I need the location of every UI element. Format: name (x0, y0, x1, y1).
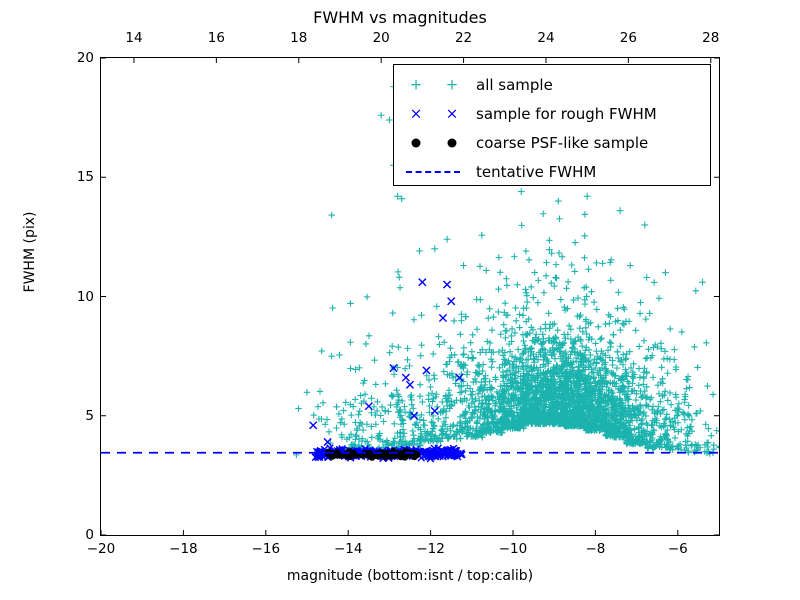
dot-marker (347, 448, 354, 455)
plus-marker (636, 382, 642, 388)
cross-marker: × (446, 106, 459, 121)
plus-marker (391, 371, 397, 377)
plus-marker (401, 430, 407, 436)
plus-marker (662, 269, 669, 276)
plus-marker: + (446, 77, 459, 92)
plus-marker (378, 112, 385, 119)
plus-marker (295, 405, 301, 411)
plus-marker (444, 236, 451, 243)
plus-marker (385, 408, 391, 414)
plus-marker (599, 260, 605, 266)
x-axis-label: magnitude (bottom:isnt / top:calib) (100, 568, 720, 584)
plus-marker (488, 364, 494, 370)
plus-marker (572, 239, 578, 245)
plus-marker (410, 405, 416, 411)
plus-marker (592, 340, 598, 346)
x-tick-top-label: 14 (125, 30, 142, 46)
plus-marker (559, 254, 565, 260)
plus-marker (524, 292, 530, 298)
plus-marker (553, 261, 559, 267)
plus-marker (512, 305, 518, 311)
plus-marker (563, 285, 569, 291)
plus-marker (391, 421, 397, 427)
plus-marker (598, 335, 604, 341)
x-tick-top-label: 20 (373, 30, 390, 46)
plus-marker (582, 211, 588, 217)
plus-marker (336, 411, 342, 417)
plus-marker: + (410, 77, 423, 92)
legend-label-all-sample: all sample (476, 76, 553, 94)
plus-marker (522, 342, 528, 348)
plus-marker (594, 306, 600, 312)
plus-marker (577, 325, 583, 331)
plus-marker (645, 346, 651, 352)
cross-marker (439, 314, 446, 321)
plus-marker (446, 387, 452, 393)
plus-marker (368, 395, 374, 401)
plus-marker (554, 327, 560, 333)
plus-marker (694, 364, 700, 370)
plus-marker (691, 344, 697, 350)
plus-marker (688, 423, 694, 429)
legend-label-coarse-psf: coarse PSF-like sample (476, 134, 648, 152)
plus-marker (418, 412, 424, 418)
plus-marker (595, 324, 601, 330)
dashed-line (406, 171, 460, 173)
plus-marker (610, 332, 616, 338)
x-tick-top-label: 16 (208, 30, 225, 46)
y-axis-label: FWHM (pix) (22, 162, 38, 342)
plus-marker (450, 422, 456, 428)
plus-marker (636, 365, 642, 371)
plus-marker (551, 321, 557, 327)
plus-marker (435, 416, 441, 422)
plus-marker (416, 248, 422, 254)
legend-handle-coarse-psf (394, 128, 476, 157)
legend-handle-rough-fwhm: × × (394, 99, 476, 128)
dot-marker (448, 138, 457, 147)
plus-marker (431, 245, 438, 252)
plus-marker (656, 295, 662, 301)
plus-marker (430, 413, 436, 419)
plus-marker (347, 300, 353, 306)
plus-marker (441, 368, 447, 374)
plus-marker (502, 300, 508, 306)
plus-marker (530, 294, 536, 300)
plus-marker (364, 294, 370, 300)
plus-marker (431, 372, 437, 378)
plus-marker (523, 305, 529, 311)
plus-marker (541, 290, 547, 296)
plus-marker (615, 289, 621, 295)
plus-marker (337, 420, 343, 426)
plus-marker (617, 207, 624, 214)
plus-marker (535, 277, 541, 283)
plus-marker (528, 284, 534, 290)
dot-marker (413, 452, 420, 459)
plus-marker (483, 267, 489, 273)
x-tick-top-label: 18 (290, 30, 307, 46)
plus-marker (347, 339, 353, 345)
plus-marker (531, 269, 537, 275)
plus-marker (617, 327, 623, 333)
chart-title: FWHM vs magnitudes (0, 8, 800, 27)
x-tick-top-label: 26 (620, 30, 637, 46)
plus-marker (664, 370, 670, 376)
plus-marker (477, 263, 483, 269)
figure-canvas: FWHM vs magnitudes FWHM (pix) magnitude … (0, 0, 800, 600)
plus-marker (683, 386, 689, 392)
x-tick-bottom-label: −16 (252, 541, 281, 557)
y-tick-label: 10 (77, 289, 94, 305)
plus-marker (606, 320, 612, 326)
plus-marker (545, 310, 551, 316)
plus-marker (540, 211, 546, 217)
plus-marker (516, 324, 522, 330)
plus-marker (356, 365, 362, 371)
plus-marker (406, 363, 412, 369)
cross-marker (431, 407, 438, 414)
plus-marker (396, 274, 402, 280)
plus-marker (304, 389, 310, 395)
plus-marker (317, 388, 323, 394)
plus-marker (377, 412, 383, 418)
plus-marker (591, 299, 597, 305)
plus-marker (526, 257, 532, 263)
plus-marker (373, 381, 379, 387)
x-tick-bottom-label: −20 (87, 541, 116, 557)
plus-marker (597, 336, 603, 342)
plus-marker (496, 254, 502, 260)
plus-marker (390, 393, 396, 399)
cross-marker (448, 298, 455, 305)
plus-marker (546, 237, 552, 243)
plus-marker (703, 340, 709, 346)
plus-marker (617, 343, 623, 349)
y-tick-label: 0 (85, 527, 94, 543)
plus-marker (572, 268, 578, 274)
plus-marker (555, 198, 562, 205)
x-tick-bottom-label: −8 (585, 541, 605, 557)
plus-marker (417, 416, 423, 422)
legend-handle-all-sample: + + (394, 70, 476, 99)
plus-marker (326, 429, 332, 435)
plus-marker (389, 393, 395, 399)
cross-marker (310, 422, 317, 429)
plus-marker (404, 345, 410, 351)
plus-marker (495, 309, 501, 315)
plus-marker (676, 400, 682, 406)
cross-marker (443, 281, 450, 288)
plus-marker (461, 345, 467, 351)
plus-marker (387, 402, 393, 408)
plus-marker (641, 222, 648, 229)
plus-marker (646, 310, 652, 316)
legend-handle-tentative-fwhm (394, 157, 476, 186)
cross-marker: × (410, 106, 423, 121)
legend-item-all-sample: + + all sample (394, 70, 710, 99)
plus-marker (357, 408, 363, 414)
plus-marker (458, 317, 464, 323)
dot-marker (412, 138, 421, 147)
plus-marker (704, 383, 710, 389)
plus-marker (371, 357, 377, 363)
plus-marker (522, 286, 528, 292)
plus-marker (584, 193, 591, 200)
plus-marker (593, 348, 599, 354)
plus-marker (626, 318, 632, 324)
plus-marker (484, 338, 490, 344)
plus-marker (468, 414, 474, 420)
plus-marker (556, 250, 562, 256)
plus-marker (588, 289, 594, 295)
plus-marker (489, 327, 495, 333)
plus-marker (382, 381, 388, 387)
plus-marker (435, 333, 441, 339)
plus-marker (495, 286, 501, 292)
plus-marker (593, 260, 599, 266)
plus-marker (552, 356, 558, 362)
plus-marker (487, 340, 493, 346)
cross-marker (402, 374, 409, 381)
plus-marker (685, 402, 691, 408)
legend-item-rough-fwhm: × × sample for rough FWHM (394, 99, 710, 128)
plus-marker (427, 384, 433, 390)
plus-marker (395, 397, 401, 403)
plus-marker (668, 401, 674, 407)
plus-marker (513, 318, 519, 324)
plus-marker (659, 376, 665, 382)
x-tick-bottom-label: −12 (416, 541, 445, 557)
plus-marker (551, 283, 557, 289)
plus-marker (417, 381, 423, 387)
plus-marker (556, 216, 562, 222)
plus-marker (501, 322, 507, 328)
plus-marker (651, 279, 657, 285)
plus-marker (418, 312, 424, 318)
plus-marker (650, 374, 656, 380)
plus-marker (504, 282, 510, 288)
plus-marker (699, 279, 706, 286)
plus-marker (369, 434, 375, 440)
plus-marker (389, 343, 395, 349)
plus-marker (461, 351, 467, 357)
plus-marker (497, 269, 503, 275)
plus-marker (434, 303, 440, 309)
plus-marker (607, 339, 613, 345)
plus-marker (682, 416, 688, 422)
plus-marker (411, 317, 417, 323)
plus-marker (352, 396, 358, 402)
plus-marker (410, 428, 416, 434)
plus-marker (708, 433, 714, 439)
y-tick-label: 20 (77, 50, 94, 66)
plus-marker (401, 403, 407, 409)
plus-marker (558, 296, 564, 302)
plus-marker (395, 269, 401, 275)
plus-marker (643, 355, 649, 361)
plus-marker (658, 364, 664, 370)
plus-marker (404, 357, 410, 363)
dot-marker (405, 451, 412, 458)
plus-marker (417, 393, 423, 399)
plus-marker (397, 285, 403, 291)
plus-marker (374, 399, 380, 405)
plus-marker (328, 353, 334, 359)
plus-marker (518, 222, 524, 228)
x-tick-top-label: 28 (702, 30, 719, 46)
plus-marker (566, 323, 572, 329)
plus-marker (498, 331, 504, 337)
plus-marker (578, 338, 584, 344)
plus-marker (512, 330, 518, 336)
plus-marker (630, 375, 636, 381)
x-tick-bottom-label: −6 (668, 541, 688, 557)
plus-marker (315, 403, 321, 409)
plus-marker (543, 259, 549, 265)
plus-marker (502, 335, 508, 341)
chart-legend: + + all sample × × sample for rough FWHM… (393, 64, 711, 186)
plus-marker (718, 428, 719, 434)
plus-marker (388, 392, 394, 398)
y-tick-label: 15 (77, 169, 94, 185)
plus-marker (444, 399, 450, 405)
x-tick-top-label: 22 (455, 30, 472, 46)
plus-marker (366, 333, 372, 339)
plus-marker (665, 397, 671, 403)
plus-marker (710, 391, 716, 397)
plus-marker (637, 299, 643, 305)
plus-marker (632, 327, 638, 333)
legend-label-rough-fwhm: sample for rough FWHM (476, 105, 657, 123)
plus-marker (643, 316, 649, 322)
plus-marker (336, 352, 342, 358)
plus-marker (386, 117, 393, 124)
plus-marker (716, 443, 719, 449)
plus-marker (395, 344, 401, 350)
plus-marker (320, 400, 326, 406)
legend-item-coarse-psf: coarse PSF-like sample (394, 128, 710, 157)
plus-marker (546, 325, 552, 331)
plus-marker (671, 346, 677, 352)
plus-marker (485, 315, 491, 321)
plus-marker (579, 343, 585, 349)
x-tick-bottom-label: −14 (334, 541, 363, 557)
plus-marker (363, 341, 369, 347)
plus-marker (627, 262, 633, 268)
plus-marker (553, 275, 559, 281)
plus-marker (518, 188, 525, 195)
plus-marker (457, 331, 463, 337)
plus-marker (561, 304, 567, 310)
plus-marker (393, 387, 399, 393)
plus-marker (360, 427, 366, 433)
plus-marker (357, 392, 363, 398)
plus-marker (685, 377, 691, 383)
plus-marker (717, 444, 719, 450)
plus-marker (508, 333, 514, 339)
plus-marker (523, 248, 529, 254)
plus-marker (374, 408, 380, 414)
plus-marker (474, 326, 480, 332)
plus-marker (469, 392, 475, 398)
plus-marker (386, 349, 392, 355)
plus-marker (636, 343, 642, 349)
plus-marker (362, 391, 368, 397)
plus-marker (658, 340, 664, 346)
plus-marker (643, 274, 649, 280)
plus-marker (319, 348, 325, 354)
plus-marker (568, 326, 574, 332)
plus-marker (503, 276, 509, 282)
plus-marker (581, 255, 587, 261)
plus-marker (637, 374, 643, 380)
plus-marker (671, 356, 677, 362)
plus-marker (469, 411, 475, 417)
cross-marker (406, 381, 413, 388)
cross-marker (419, 279, 426, 286)
plus-marker (379, 404, 385, 410)
plus-marker (419, 399, 425, 405)
plus-marker (582, 301, 588, 307)
y-tick-label: 5 (85, 408, 94, 424)
plus-marker (552, 274, 558, 280)
x-tick-bottom-label: −18 (169, 541, 198, 557)
plus-marker (511, 253, 517, 259)
plus-marker (467, 340, 473, 346)
plus-marker (457, 389, 463, 395)
plus-marker (329, 305, 335, 311)
plus-marker (348, 412, 354, 418)
plus-marker (585, 266, 591, 272)
plus-marker (565, 279, 571, 285)
plus-marker (643, 402, 649, 408)
plus-marker (460, 262, 467, 269)
plus-marker (608, 277, 614, 283)
plus-marker (520, 338, 526, 344)
plus-marker (502, 328, 508, 334)
plus-marker (614, 305, 620, 311)
plus-marker (679, 329, 685, 335)
plus-marker (520, 312, 526, 318)
legend-item-tentative-fwhm: tentative FWHM (394, 157, 710, 186)
plus-marker (523, 290, 529, 296)
plus-marker (583, 325, 589, 331)
plus-marker (472, 404, 478, 410)
plus-marker (524, 299, 530, 305)
plus-marker (486, 306, 492, 312)
plus-marker (347, 365, 353, 371)
plus-marker (569, 262, 575, 268)
plus-marker (548, 280, 554, 286)
plus-marker (490, 314, 496, 320)
plus-marker (474, 419, 480, 425)
plus-marker (661, 406, 667, 412)
plus-marker (535, 300, 541, 306)
plus-marker (329, 212, 335, 218)
legend-label-tentative-fwhm: tentative FWHM (476, 163, 596, 181)
plus-marker (608, 340, 614, 346)
plus-marker (420, 417, 426, 423)
plus-marker (355, 412, 361, 418)
plus-marker (418, 342, 424, 348)
plus-marker (390, 310, 396, 316)
plus-marker (469, 332, 475, 338)
plus-marker (516, 311, 522, 317)
plus-marker (380, 418, 386, 424)
plus-marker (430, 351, 436, 357)
plus-marker (686, 384, 692, 390)
